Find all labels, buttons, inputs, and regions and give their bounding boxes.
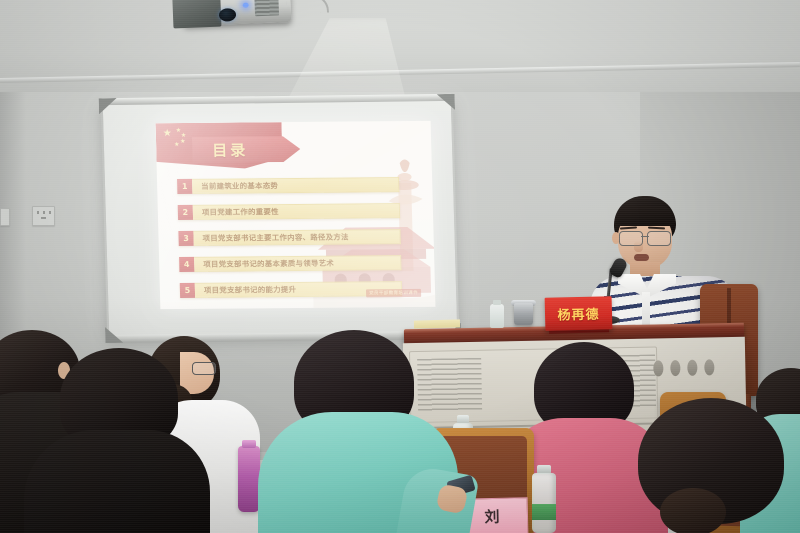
presenter-nose <box>634 241 643 252</box>
toc-item-number: 2 <box>178 205 193 220</box>
toc-item-number: 5 <box>180 283 195 298</box>
podium-water-bottle <box>490 304 504 328</box>
toc-item-number: 1 <box>177 179 192 194</box>
water-bottle <box>532 465 556 533</box>
toc-item: 3 项目党支部书记主要工作内容、路径及方法 <box>178 229 400 246</box>
podium-vent <box>417 358 482 411</box>
attendee-torso <box>24 430 210 533</box>
slide-title-ribbon: 目录 <box>192 136 301 163</box>
projector-cable <box>286 0 329 14</box>
purple-water-bottle <box>238 446 260 512</box>
projector-vent <box>254 0 279 16</box>
podium-speaker-holes <box>653 359 731 376</box>
toc-item-number: 3 <box>178 231 193 246</box>
whiteboard-corner <box>437 94 455 110</box>
presenter-nameplate-text: 杨再德 <box>557 303 599 323</box>
podium-papers <box>414 319 460 328</box>
podium-water-bottle-cap <box>493 300 501 305</box>
toc-item-label: 项目党支部书记主要工作内容、路径及方法 <box>193 229 400 246</box>
tumbler-cup <box>514 303 533 325</box>
presenter-nameplate: 杨再德 <box>545 296 613 331</box>
toc-item-label: 项目党建工作的重要性 <box>193 203 400 220</box>
flag-stars-icon: ★★★ ★★ <box>163 128 193 144</box>
presenter-fringe <box>615 206 675 226</box>
ceiling <box>0 0 800 96</box>
toc-item-label: 项目党支部书记的基本素质与领导艺术 <box>194 255 401 272</box>
attendee-hair-knot <box>660 488 726 533</box>
photo-scene: ★★★ ★★ 目录 1 当前建筑业的基本态势 2 项目党建工作的重要性 3 项目… <box>0 0 800 533</box>
outlet-slots <box>37 211 51 214</box>
outlet-slot-lower <box>41 217 46 219</box>
projected-slide: ★★★ ★★ 目录 1 当前建筑业的基本态势 2 项目党建工作的重要性 3 项目… <box>156 121 436 309</box>
toc-item: 2 项目党建工作的重要性 <box>178 203 400 220</box>
slide-credit: 党员干部教育培训课件 <box>366 289 421 297</box>
bottle-cap <box>242 440 256 448</box>
eyeglasses-icon <box>192 362 216 375</box>
bottle-body <box>532 473 556 533</box>
toc-item: 1 当前建筑业的基本态势 <box>177 177 399 194</box>
attendee-name-card-text: 刘 <box>484 506 501 527</box>
presenter-placket <box>642 292 650 326</box>
toc-item-label: 当前建筑业的基本态势 <box>192 177 399 194</box>
wall-switch-plate <box>32 206 55 226</box>
eyeglasses-icon <box>617 231 674 244</box>
presenter-mouth <box>634 254 649 261</box>
wall-outlet-plate <box>0 208 10 226</box>
slide-title: 目录 <box>212 139 249 160</box>
ceiling-projector <box>182 0 291 36</box>
toc-item-number: 4 <box>179 257 194 272</box>
toc-item: 4 项目党支部书记的基本素质与领导艺术 <box>179 255 401 272</box>
projector-lens-hood <box>172 0 221 28</box>
